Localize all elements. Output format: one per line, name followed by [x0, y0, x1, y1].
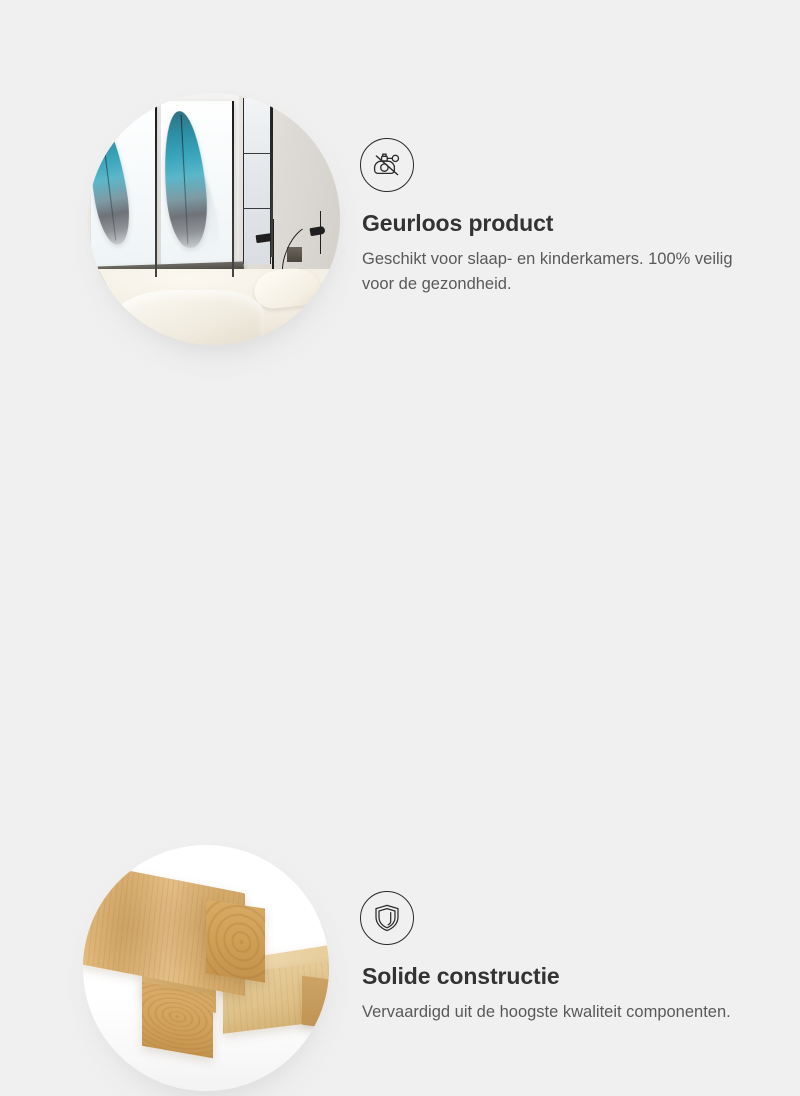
- wood-beam-right-end: [302, 975, 329, 1029]
- circular-photo-mask: [83, 845, 329, 1091]
- feather-shape: [161, 109, 211, 249]
- product-image-wooden-beams: [83, 845, 329, 1091]
- panel-frame-edge: [271, 101, 274, 257]
- bedroom-scene: [88, 93, 340, 345]
- panel-frame-edge: [232, 101, 235, 277]
- wood-cube-face: [142, 981, 213, 1058]
- canvas-panel-left: [91, 101, 157, 272]
- feature-description: Geschikt voor slaap- en kinderkamers. 10…: [362, 247, 744, 297]
- feature-block-solid-construction: Solide constructie Vervaardigd uit de ho…: [0, 400, 800, 800]
- feature-title: Solide constructie: [362, 963, 762, 991]
- canvas-panel-middle: [161, 101, 232, 272]
- feature-block-odourless: Geurloos product Geschikt voor slaap- en…: [0, 0, 800, 400]
- no-perfume-icon: [360, 138, 414, 192]
- circular-photo-mask: [88, 93, 340, 345]
- product-image-bedroom: [88, 93, 340, 345]
- shield-icon: [360, 891, 414, 945]
- feather-shape: [91, 116, 135, 246]
- feature-title: Geurloos product: [362, 210, 762, 238]
- feature-description: Vervaardigd uit de hoogste kwaliteit com…: [362, 1000, 744, 1025]
- wooden-beams-scene: [83, 845, 329, 1091]
- duvet: [108, 290, 264, 345]
- panel-frame-edge: [155, 101, 158, 277]
- feature-text-odourless: Geurloos product Geschikt voor slaap- en…: [362, 210, 762, 297]
- wood-beam-end-grain: [206, 899, 265, 982]
- feature-text-solid-construction: Solide constructie Vervaardigd uit de ho…: [362, 963, 762, 1025]
- feature-page: Geurloos product Geschikt voor slaap- en…: [0, 0, 800, 800]
